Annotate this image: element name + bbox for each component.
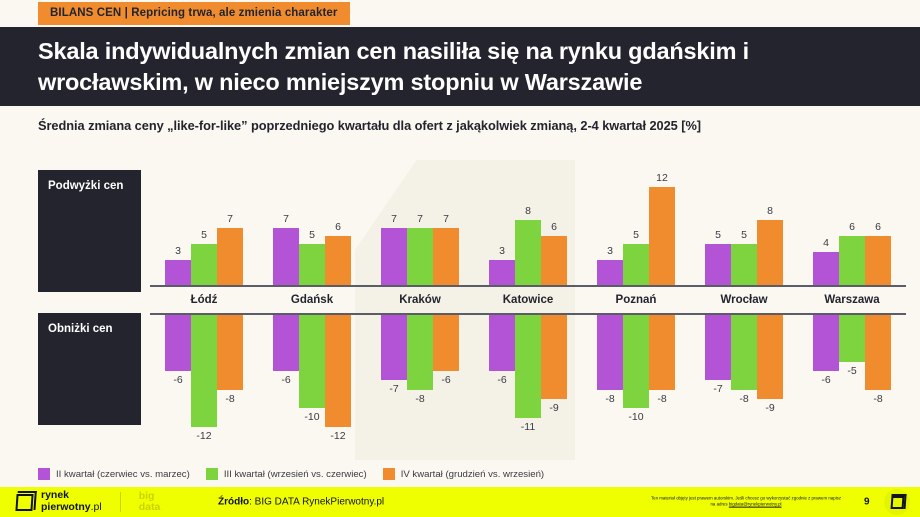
bar-rect[interactable]: [839, 236, 865, 285]
bar-value-label: -5: [847, 365, 856, 377]
bar-rect[interactable]: [865, 315, 891, 390]
bar-item[interactable]: 3: [597, 160, 623, 285]
bar-group-decreases: -8-10-8: [582, 315, 690, 460]
category-label: Katowice: [474, 287, 582, 313]
bar-rect[interactable]: [731, 244, 757, 285]
bar-item[interactable]: 5: [191, 160, 217, 285]
bar-group: 777Kraków-7-8-6: [366, 160, 474, 460]
bar-item[interactable]: 7: [273, 160, 299, 285]
bar-rect[interactable]: [191, 315, 217, 427]
bar-item[interactable]: -11: [515, 315, 541, 460]
bar-item[interactable]: -8: [731, 315, 757, 460]
bar-item[interactable]: 7: [433, 160, 459, 285]
bar-value-label: -12: [196, 430, 211, 442]
bar-group: 558Wrocław-7-8-9: [690, 160, 798, 460]
legend-label: II kwartał (czerwiec vs. marzec): [56, 469, 190, 480]
bar-item[interactable]: -9: [541, 315, 567, 460]
bar-value-label: -7: [389, 383, 398, 395]
bar-item[interactable]: -6: [273, 315, 299, 460]
bar-rect[interactable]: [299, 244, 325, 285]
bar-rect[interactable]: [381, 228, 407, 285]
panel-label-decreases: Obniżki cen: [38, 313, 141, 335]
bar-value-label: -6: [441, 374, 450, 386]
bar-value-label: 3: [499, 245, 505, 257]
bar-rect[interactable]: [649, 315, 675, 390]
bar-value-label: 3: [175, 245, 181, 257]
bar-group: 466Warszawa-6-5-8: [798, 160, 906, 460]
bar-group-increases: 386: [474, 160, 582, 285]
bar-group: 3512Poznań-8-10-8: [582, 160, 690, 460]
bar-value-label: -10: [628, 411, 643, 423]
bar-group-increases: 558: [690, 160, 798, 285]
category-label: Gdańsk: [258, 287, 366, 313]
bar-group-decreases: -6-10-12: [258, 315, 366, 460]
bar-item[interactable]: -8: [217, 315, 243, 460]
bar-item[interactable]: 7: [217, 160, 243, 285]
panel-label-box-decreases: Obniżki cen: [38, 313, 141, 425]
bar-value-label: -8: [225, 393, 234, 405]
bar-item[interactable]: -10: [623, 315, 649, 460]
bar-rect[interactable]: [623, 315, 649, 408]
bar-value-label: -12: [330, 430, 345, 442]
panel-label-box-increases: Podwyżki cen: [38, 170, 141, 292]
bar-rect[interactable]: [191, 244, 217, 285]
bigdata-logo: big data: [139, 491, 161, 513]
bar-rect[interactable]: [705, 315, 731, 380]
legend-label: IV kwartał (grudzień vs. wrzesień): [401, 469, 544, 480]
bar-value-label: 6: [551, 221, 557, 233]
legend-q4[interactable]: IV kwartał (grudzień vs. wrzesień): [383, 468, 544, 480]
bar-item[interactable]: 5: [705, 160, 731, 285]
bar-value-label: -8: [605, 393, 614, 405]
bar-item[interactable]: -6: [813, 315, 839, 460]
bar-value-label: 5: [715, 229, 721, 241]
legend-swatch-icon: [38, 468, 50, 480]
category-label: Wrocław: [690, 287, 798, 313]
category-label: Kraków: [366, 287, 474, 313]
chart-plot-area: 357Łódź-6-12-8756Gdańsk-6-10-12777Kraków…: [150, 160, 906, 460]
bar-value-label: 7: [443, 213, 449, 225]
legend-q3[interactable]: III kwartał (wrzesień vs. czerwiec): [206, 468, 367, 480]
bar-rect[interactable]: [273, 315, 299, 371]
bar-item[interactable]: -7: [705, 315, 731, 460]
bar-rect[interactable]: [407, 228, 433, 285]
bar-rect[interactable]: [489, 260, 515, 285]
bar-rect[interactable]: [407, 315, 433, 390]
bar-rect[interactable]: [597, 260, 623, 285]
chart-subtitle: Średnia zmiana ceny „like-for-like” popr…: [38, 118, 701, 133]
copyright-note: Ten materiał objęty jest prawem autorski…: [648, 496, 844, 509]
brand-name-line2: pierwotny.pl: [41, 502, 102, 514]
bar-rect[interactable]: [273, 228, 299, 285]
bar-group-decreases: -7-8-6: [366, 315, 474, 460]
bar-rect[interactable]: [515, 315, 541, 418]
bar-rect[interactable]: [757, 220, 783, 285]
bar-group-increases: 777: [366, 160, 474, 285]
bar-item[interactable]: -8: [649, 315, 675, 460]
bar-value-label: 7: [227, 213, 233, 225]
bar-rect[interactable]: [165, 260, 191, 285]
slide-root: BILANS CEN | Repricing trwa, ale zmienia…: [0, 0, 920, 517]
bar-rect[interactable]: [489, 315, 515, 371]
bar-value-label: 5: [741, 229, 747, 241]
bar-value-label: -6: [497, 374, 506, 386]
cube-icon: [15, 494, 33, 511]
bar-item[interactable]: -12: [191, 315, 217, 460]
bar-value-label: -9: [765, 402, 774, 414]
bar-value-label: 3: [607, 245, 613, 257]
bar-rect[interactable]: [757, 315, 783, 399]
bar-group: 357Łódź-6-12-8: [150, 160, 258, 460]
bar-value-label: 7: [417, 213, 423, 225]
bar-rect[interactable]: [299, 315, 325, 408]
brand-logo[interactable]: rynek pierwotny.pl big data: [0, 490, 160, 513]
bar-item[interactable]: -7: [381, 315, 407, 460]
bar-rect[interactable]: [217, 228, 243, 285]
bar-item[interactable]: 3: [489, 160, 515, 285]
category-label: Łódź: [150, 287, 258, 313]
bar-value-label: 12: [656, 172, 668, 184]
bar-value-label: 5: [309, 229, 315, 241]
legend-q2[interactable]: II kwartał (czerwiec vs. marzec): [38, 468, 190, 480]
bar-value-label: 5: [633, 229, 639, 241]
bar-item[interactable]: -9: [757, 315, 783, 460]
bar-rect[interactable]: [541, 236, 567, 285]
bar-rect[interactable]: [649, 187, 675, 285]
bar-rect[interactable]: [515, 220, 541, 285]
title-band: Skala indywidualnych zmian cen nasiliła …: [0, 27, 920, 106]
bar-item[interactable]: 8: [757, 160, 783, 285]
bar-item[interactable]: 5: [731, 160, 757, 285]
chart-legend: II kwartał (czerwiec vs. marzec)III kwar…: [38, 468, 544, 480]
bar-rect[interactable]: [381, 315, 407, 380]
bar-value-label: -6: [173, 374, 182, 386]
bar-item[interactable]: 6: [325, 160, 351, 285]
kicker-badge: BILANS CEN | Repricing trwa, ale zmienia…: [38, 2, 350, 25]
page-number: 9: [864, 497, 870, 508]
bar-value-label: -8: [739, 393, 748, 405]
bar-rect[interactable]: [433, 228, 459, 285]
logo-divider: [120, 492, 121, 512]
brand-tld: .pl: [91, 501, 102, 513]
bar-rect[interactable]: [217, 315, 243, 390]
source-prefix: Źródło: [218, 497, 249, 508]
bar-value-label: 8: [525, 205, 531, 217]
bar-item[interactable]: 12: [649, 160, 675, 285]
footer-bar: rynek pierwotny.pl big data Źródło: BIG …: [0, 487, 920, 517]
bar-group-decreases: -6-12-8: [150, 315, 258, 460]
bar-value-label: 4: [823, 237, 829, 249]
bar-item[interactable]: -8: [597, 315, 623, 460]
bar-rect[interactable]: [325, 315, 351, 427]
bar-value-label: 5: [201, 229, 207, 241]
bar-value-label: 6: [335, 221, 341, 233]
brand-name-word: pierwotny: [41, 501, 91, 513]
bar-group-decreases: -7-8-9: [690, 315, 798, 460]
bar-item[interactable]: -8: [865, 315, 891, 460]
bar-group-increases: 466: [798, 160, 906, 285]
bar-item[interactable]: 5: [623, 160, 649, 285]
bar-rect[interactable]: [813, 315, 839, 371]
bar-groups: 357Łódź-6-12-8756Gdańsk-6-10-12777Kraków…: [150, 160, 906, 460]
bar-rect[interactable]: [597, 315, 623, 390]
source-note: Źródło: BIG DATA RynekPierwotny.pl: [218, 497, 384, 508]
bar-value-label: 6: [875, 221, 881, 233]
legend-swatch-icon: [206, 468, 218, 480]
bar-item[interactable]: 7: [407, 160, 433, 285]
bar-value-label: 6: [849, 221, 855, 233]
bigdata-line2: data: [139, 502, 161, 513]
footer-logo-badge[interactable]: [884, 489, 910, 515]
bar-value-label: -7: [713, 383, 722, 395]
legend-swatch-icon: [383, 468, 395, 480]
bar-item[interactable]: -6: [165, 315, 191, 460]
bar-group-increases: 3512: [582, 160, 690, 285]
bar-group: 756Gdańsk-6-10-12: [258, 160, 366, 460]
bar-item[interactable]: -6: [489, 315, 515, 460]
bar-group-increases: 357: [150, 160, 258, 285]
bar-value-label: -6: [281, 374, 290, 386]
category-label: Poznań: [582, 287, 690, 313]
bar-group-decreases: -6-11-9: [474, 315, 582, 460]
copyright-email-link[interactable]: bigdata@rynekpierwotny.pl: [729, 502, 782, 507]
bar-item[interactable]: 5: [299, 160, 325, 285]
bar-rect[interactable]: [165, 315, 191, 371]
bar-rect[interactable]: [731, 315, 757, 390]
bar-value-label: -9: [549, 402, 558, 414]
bar-item[interactable]: 6: [865, 160, 891, 285]
bar-item[interactable]: -5: [839, 315, 865, 460]
bar-value-label: -8: [415, 393, 424, 405]
category-label: Warszawa: [798, 287, 906, 313]
bar-value-label: -10: [304, 411, 319, 423]
bar-item[interactable]: 8: [515, 160, 541, 285]
cube-icon: [890, 496, 904, 509]
bar-rect[interactable]: [325, 236, 351, 285]
bar-value-label: 8: [767, 205, 773, 217]
bar-rect[interactable]: [623, 244, 649, 285]
brand-name: rynek pierwotny.pl: [41, 490, 102, 513]
bar-value-label: -8: [657, 393, 666, 405]
bar-rect[interactable]: [839, 315, 865, 362]
bar-rect[interactable]: [541, 315, 567, 399]
copyright-line1: Ten materiał objęty jest prawem autorski…: [651, 496, 790, 501]
bar-group-increases: 756: [258, 160, 366, 285]
bar-value-label: 7: [283, 213, 289, 225]
bar-item[interactable]: -12: [325, 315, 351, 460]
bar-rect[interactable]: [705, 244, 731, 285]
page-title: Skala indywidualnych zmian cen nasiliła …: [0, 36, 920, 96]
bar-item[interactable]: 4: [813, 160, 839, 285]
source-text: : BIG DATA RynekPierwotny.pl: [249, 497, 384, 508]
bar-item[interactable]: -6: [433, 315, 459, 460]
bar-item[interactable]: -8: [407, 315, 433, 460]
bar-rect[interactable]: [865, 236, 891, 285]
bar-item[interactable]: 7: [381, 160, 407, 285]
bar-group: 386Katowice-6-11-9: [474, 160, 582, 460]
legend-label: III kwartał (wrzesień vs. czerwiec): [224, 469, 367, 480]
bar-item[interactable]: -10: [299, 315, 325, 460]
bar-rect[interactable]: [433, 315, 459, 371]
bar-item[interactable]: 6: [839, 160, 865, 285]
bar-value-label: 7: [391, 213, 397, 225]
bar-rect[interactable]: [813, 252, 839, 285]
bar-group-decreases: -6-5-8: [798, 315, 906, 460]
bar-value-label: -11: [521, 421, 535, 433]
bar-item[interactable]: 6: [541, 160, 567, 285]
bar-value-label: -8: [873, 393, 882, 405]
panel-label-increases: Podwyżki cen: [38, 170, 141, 192]
bar-value-label: -6: [821, 374, 830, 386]
bar-item[interactable]: 3: [165, 160, 191, 285]
